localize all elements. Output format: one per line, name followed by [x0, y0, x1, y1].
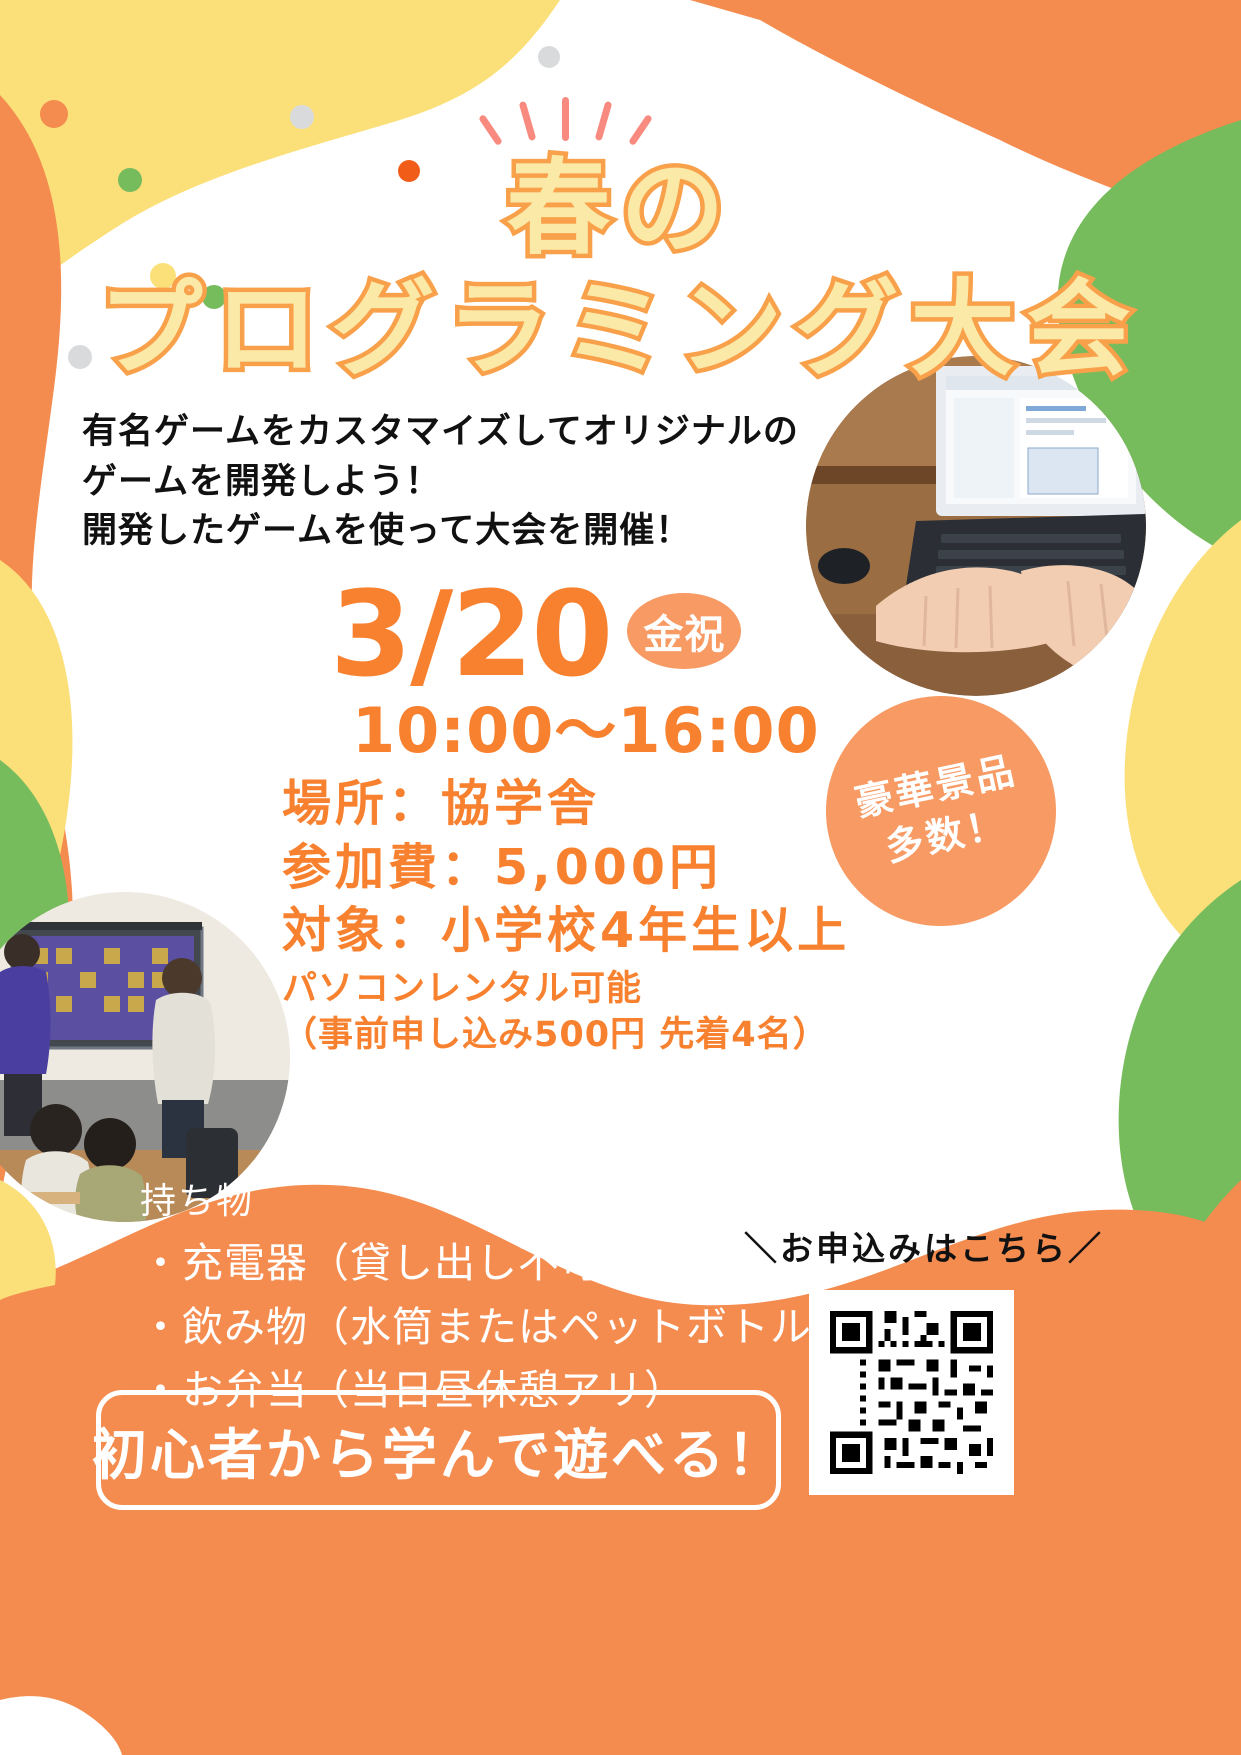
confetti-dot [538, 46, 560, 68]
detail-venue: 場所：協学舎 [282, 772, 850, 836]
bring-list-title: 持ち物 [140, 1172, 854, 1224]
event-details: 場所：協学舎 参加費：5,000円 対象：小学校4年生以上 パソコンレンタル可能… [282, 772, 850, 1058]
detail-target: 対象：小学校4年生以上 [282, 899, 850, 963]
apply-here-label: ＼お申込みはこちら／ [744, 1222, 1104, 1270]
sparkle-line-icon [628, 114, 653, 146]
poster-title-block: 春の プログラミング大会 [0, 95, 1241, 384]
title-line-2: プログラミング大会 [0, 275, 1241, 384]
event-date-row: 3/20 金祝 [330, 575, 741, 693]
event-date: 3/20 [330, 575, 611, 693]
detail-rental-note: （事前申し込み500円 先着4名） [282, 1013, 850, 1059]
sparkle-line-icon [478, 114, 503, 146]
lead-copy: 有名ゲームをカスタマイズしてオリジナルの ゲームを開発しよう！ 開発したゲームを… [82, 408, 862, 557]
lead-line-1: 有名ゲームをカスタマイズしてオリジナルの [82, 408, 862, 458]
sparkle-decoration [0, 95, 1241, 147]
qr-code[interactable] [809, 1290, 1014, 1495]
detail-rental: パソコンレンタル可能 [282, 967, 850, 1013]
detail-fee: 参加費：5,000円 [282, 836, 850, 900]
sparkle-line-icon [562, 97, 569, 141]
sparkle-line-icon [595, 101, 613, 141]
lead-line-3: 開発したゲームを使って大会を開催！ [82, 507, 862, 557]
poster-root: 春の プログラミング大会 [0, 0, 1241, 1755]
confetti-dot [432, 38, 454, 60]
bring-item: ・飲み物（水筒またはペットボトル） [140, 1296, 854, 1360]
title-line-1: 春の [0, 155, 1241, 261]
event-day-badge: 金祝 [627, 593, 741, 669]
lead-line-2: ゲームを開発しよう！ [82, 458, 862, 508]
bottom-banner-text: 初心者から学んで遊べる！ [92, 1410, 785, 1490]
bottom-banner: 初心者から学んで遊べる！ [96, 1390, 781, 1510]
sparkle-line-icon [519, 101, 537, 141]
bring-list: 持ち物 ・充電器（貸し出し不可） ・飲み物（水筒またはペットボトル） ・お弁当（… [140, 1172, 854, 1423]
event-time: 10:00〜16:00 [352, 680, 820, 770]
qr-code-svg[interactable] [824, 1305, 999, 1480]
